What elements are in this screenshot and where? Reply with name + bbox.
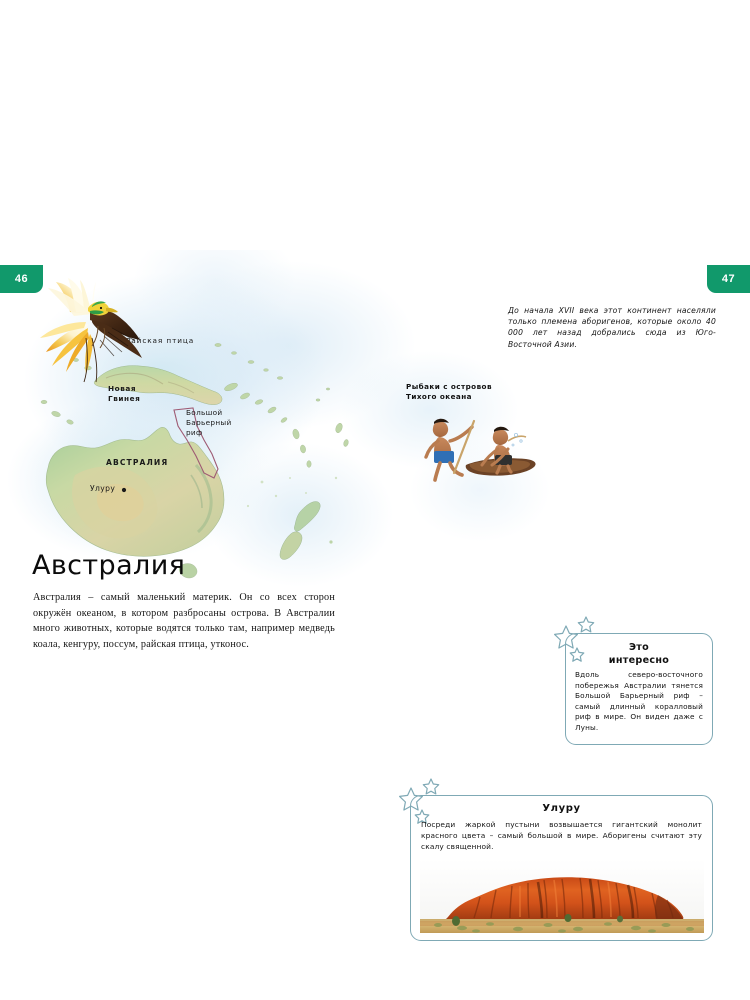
- fact-box-interesting: Это интересно Вдоль северо-восточного по…: [565, 633, 713, 745]
- intro-paragraph: До начала XVII века этот континент насел…: [508, 305, 716, 350]
- map-label-australia: АВСТРАЛИЯ: [106, 458, 168, 468]
- book-spread: 46 47: [0, 250, 750, 705]
- page-title: Австралия: [32, 550, 185, 581]
- body-paragraph: Австралия – самый маленький материк. Он …: [33, 590, 335, 652]
- fishermen-caption: Рыбаки с островов Тихого океана: [406, 382, 492, 402]
- fact-box-uluru-body: Посреди жаркой пустыни возвышается гиган…: [421, 820, 702, 852]
- pacific-fishermen-illustration: [408, 405, 548, 483]
- bird-of-paradise-illustration: [30, 278, 150, 388]
- fact-box-interesting-title: Это интересно: [566, 642, 712, 667]
- map-label-uluru: Улуру: [90, 484, 115, 494]
- fact-box-interesting-body: Вдоль северо-восточного побережья Австра…: [575, 670, 703, 734]
- uluru-rock-photo: [420, 859, 704, 933]
- uluru-marker-dot: [120, 486, 128, 494]
- fact-box-uluru: Улуру Посреди жаркой пустыни возвышается…: [410, 795, 713, 941]
- fact-box-uluru-title: Улуру: [411, 803, 712, 814]
- page-number-badge-right: 47: [707, 265, 750, 293]
- map-label-great-barrier-reef: Большой Барьерный риф: [186, 408, 232, 438]
